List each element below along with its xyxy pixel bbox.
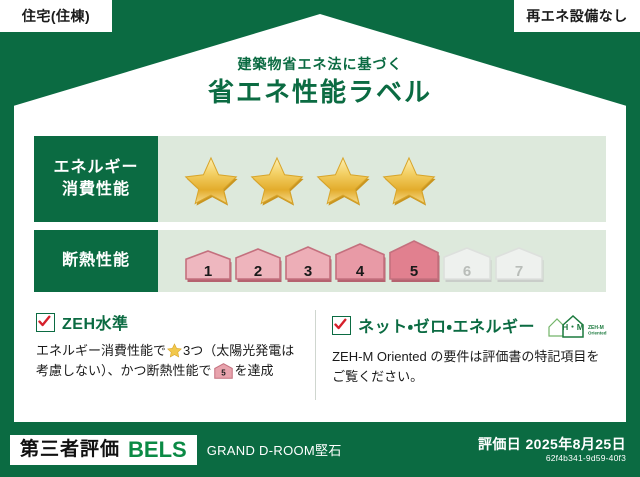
energy-rating-area [158, 136, 606, 222]
criterion-net-zero: ネット・ゼロ・エネルギー H・M ZEH-M Oriented ZEH-M Or… [315, 310, 608, 400]
star-icon [316, 152, 370, 206]
criterion-zeh-header: ZEH水準 [36, 310, 305, 334]
energy-performance-row: エネルギー 消費性能 [34, 136, 606, 222]
bels-plate: 第三者評価 BELS [10, 435, 197, 465]
bels-logo-text: BELS [128, 439, 187, 461]
criterion-net-zero-header: ネット・ゼロ・エネルギー H・M ZEH-M Oriented [332, 310, 608, 340]
insulation-level-5: 5 [388, 239, 440, 284]
insulation-performance-row: 断熱性能 1234567 [34, 230, 606, 292]
check-icon [334, 318, 347, 331]
star-icon [382, 152, 436, 206]
star-icon [167, 343, 182, 358]
house-icon [334, 242, 386, 284]
criterion-zeh: ZEH水準 エネルギー消費性能で3つ（太陽光発電は考慮しない）、かつ断熱性能で5… [36, 310, 315, 400]
label-title-block: 建築物省エネ法に基づく 省エネ性能ラベル [14, 56, 626, 108]
energy-performance-label-cell: エネルギー 消費性能 [34, 136, 158, 222]
house-icon [284, 245, 332, 284]
house-icon [494, 246, 544, 284]
page-title: 省エネ性能ラベル [14, 77, 626, 108]
house-icon [184, 249, 232, 284]
zeh-body-pre: エネルギー消費性能で [36, 343, 166, 358]
svg-text:Oriented: Oriented [588, 331, 607, 336]
label-footer: 第三者評価 BELS GRAND D-ROOM堅石 評価日 2025年8月25日… [0, 422, 640, 477]
house-icon [442, 246, 492, 284]
house-icon: 5 [214, 363, 233, 379]
insulation-label: 断熱性能 [62, 250, 130, 272]
star-icon [250, 152, 304, 206]
label-subtitle: 建築物省エネ法に基づく [14, 56, 626, 73]
net-zero-checkbox [332, 316, 351, 335]
criterion-net-zero-body: ZEH-M Oriented の要件は評価書の特記項目をご覧ください。 [332, 347, 608, 387]
zeh-checkbox [36, 313, 55, 332]
energy-performance-label: 住宅(住棟) 再エネ設備なし 建築物省エネ法に基づく 省エネ性能ラベル エネルギ… [0, 0, 640, 477]
evaluation-id: 62f4b341-9d59-40f3 [478, 453, 626, 463]
insulation-level-3: 3 [284, 245, 332, 284]
insulation-level-7: 7 [494, 246, 544, 284]
svg-text:H・M: H・M [562, 322, 584, 332]
third-party-eval-text: 第三者評価 [20, 440, 120, 459]
criteria-section: ZEH水準 エネルギー消費性能で3つ（太陽光発電は考慮しない）、かつ断熱性能で5… [36, 310, 608, 400]
building-name: GRAND D-ROOM堅石 [207, 440, 342, 459]
criterion-net-zero-title: ネット・ゼロ・エネルギー [358, 313, 535, 337]
star-icon [184, 152, 238, 206]
house-icon [388, 239, 440, 284]
building-type-badge: 住宅(住棟) [0, 0, 112, 32]
criterion-zeh-body: エネルギー消費性能で3つ（太陽光発電は考慮しない）、かつ断熱性能で5を達成 [36, 341, 305, 381]
house-icon [234, 247, 282, 284]
renewable-energy-badge: 再エネ設備なし [514, 0, 640, 32]
insulation-level-4: 4 [334, 242, 386, 284]
zeh-m-oriented-logo: H・M ZEH-M Oriented [546, 310, 608, 340]
svg-text:5: 5 [221, 369, 226, 378]
insulation-rating-area: 1234567 [158, 230, 606, 292]
energy-label-line2: 消費性能 [62, 179, 130, 201]
insulation-level-1: 1 [184, 249, 232, 284]
criterion-zeh-title: ZEH水準 [62, 310, 129, 334]
panel-content: 建築物省エネ法に基づく 省エネ性能ラベル エネルギー 消費性能 断熱性能 123… [14, 14, 626, 422]
insulation-level-6: 6 [442, 246, 492, 284]
insulation-level-2: 2 [234, 247, 282, 284]
house-rating-scale: 1234567 [184, 239, 544, 284]
evaluation-date: 評価日 2025年8月25日 [478, 436, 626, 453]
check-icon [38, 315, 51, 328]
footer-meta: 評価日 2025年8月25日 62f4b341-9d59-40f3 [478, 436, 626, 464]
insulation-performance-label-cell: 断熱性能 [34, 230, 158, 292]
star-rating [184, 152, 436, 206]
zeh-body-post: を達成 [235, 363, 274, 378]
energy-label-line1: エネルギー [53, 157, 138, 179]
